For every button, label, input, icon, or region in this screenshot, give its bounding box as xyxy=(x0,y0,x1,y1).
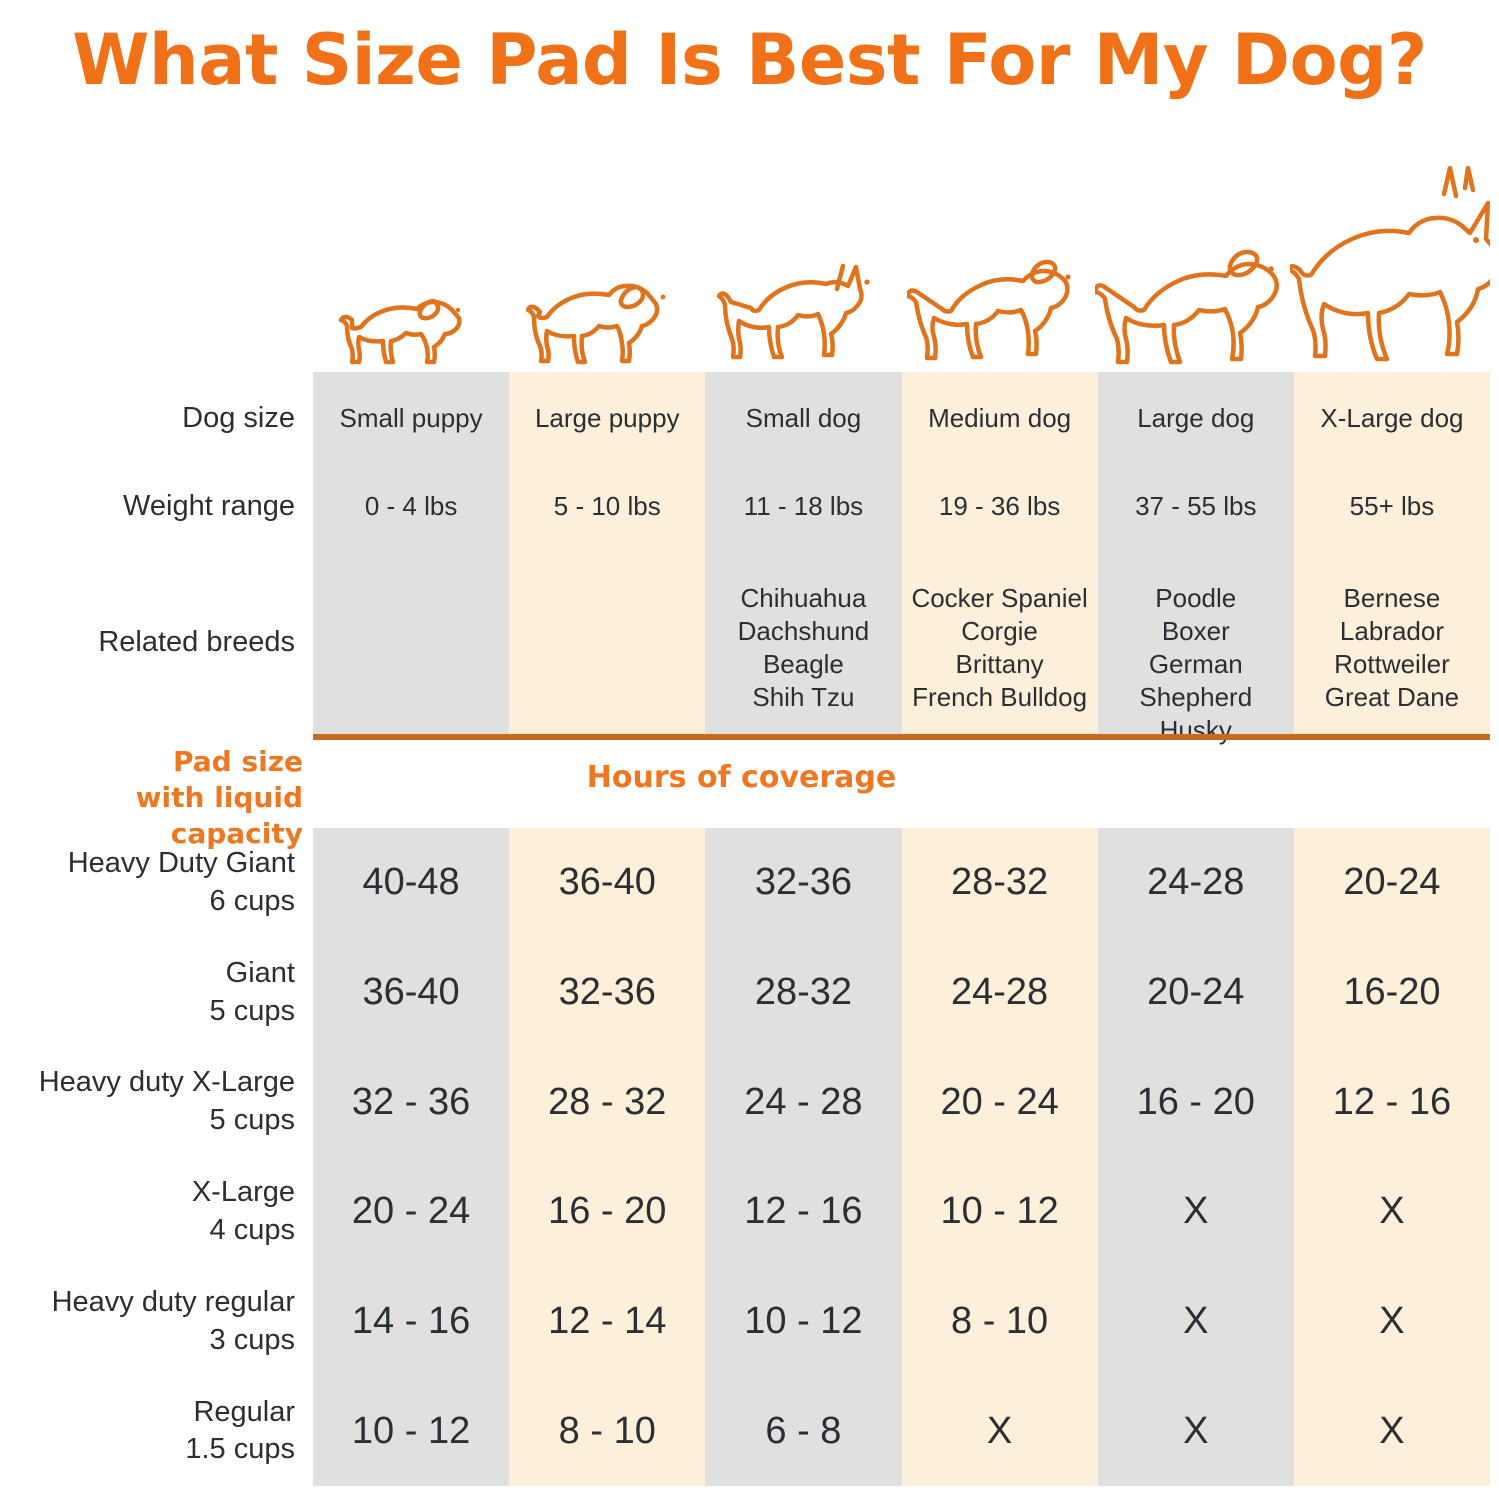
dog-cell-xlarge-dog xyxy=(1290,150,1490,372)
cell-dog-size-1: Large puppy xyxy=(509,402,705,435)
dog-silhouette-strip xyxy=(313,150,1490,372)
cell-hours-4-2: 10 - 12 xyxy=(705,1300,901,1343)
cell-hours-1-2: 28-32 xyxy=(705,971,901,1014)
pad-row-label-1: Giant 5 cups xyxy=(0,955,313,1030)
cell-hours-1-1: 32-36 xyxy=(509,971,705,1014)
small-dog-icon xyxy=(717,236,887,372)
cell-hours-4-0: 14 - 16 xyxy=(313,1300,509,1343)
pad-row-label-2: Heavy duty X-Large 5 cups xyxy=(0,1064,313,1139)
cell-breeds-2: Chihuahua Dachshund Beagle Shih Tzu xyxy=(705,582,901,747)
cell-breeds-3: Cocker Spaniel Corgie Brittany French Bu… xyxy=(902,582,1098,747)
pad-row-label-5: Regular 1.5 cups xyxy=(0,1394,313,1469)
row-label-weight-range: Weight range xyxy=(0,490,313,523)
cell-breeds-1 xyxy=(509,582,705,747)
cell-hours-3-4: X xyxy=(1098,1190,1294,1233)
cell-hours-3-5: X xyxy=(1294,1190,1490,1233)
cell-hours-5-5: X xyxy=(1294,1410,1490,1453)
cell-hours-1-0: 36-40 xyxy=(313,971,509,1014)
cell-hours-2-2: 24 - 28 xyxy=(705,1081,901,1124)
cell-hours-4-3: 8 - 10 xyxy=(902,1300,1098,1343)
cell-hours-2-3: 20 - 24 xyxy=(902,1081,1098,1124)
table-row: Regular 1.5 cups 10 - 12 8 - 10 6 - 8 X … xyxy=(0,1376,1499,1486)
hours-of-coverage-heading: Hours of coverage xyxy=(313,760,1490,795)
dog-cell-large-dog xyxy=(1095,150,1290,372)
cell-hours-0-3: 28-32 xyxy=(902,861,1098,904)
cell-hours-0-2: 32-36 xyxy=(705,861,901,904)
cell-breeds-0 xyxy=(313,582,509,747)
cell-breeds-4: Poodle Boxer German Shepherd Husky xyxy=(1098,582,1294,747)
table-row: Heavy duty regular 3 cups 14 - 16 12 - 1… xyxy=(0,1267,1499,1377)
small-puppy-icon xyxy=(336,276,486,372)
dog-size-table: Dog size Small puppy Large puppy Small d… xyxy=(0,372,1499,734)
cell-hours-3-1: 16 - 20 xyxy=(509,1190,705,1233)
cell-hours-1-3: 24-28 xyxy=(902,971,1098,1014)
table-row-dog-size: Dog size Small puppy Large puppy Small d… xyxy=(0,402,1499,435)
table-row: X-Large 4 cups 20 - 24 16 - 20 12 - 16 1… xyxy=(0,1157,1499,1267)
cell-dog-size-2: Small dog xyxy=(705,402,901,435)
cell-hours-2-0: 32 - 36 xyxy=(313,1081,509,1124)
cell-weight-5: 55+ lbs xyxy=(1294,490,1490,523)
cell-hours-2-4: 16 - 20 xyxy=(1098,1081,1294,1124)
table-row-weight-range: Weight range 0 - 4 lbs 5 - 10 lbs 11 - 1… xyxy=(0,490,1499,523)
cell-weight-2: 11 - 18 lbs xyxy=(705,490,901,523)
cell-dog-size-0: Small puppy xyxy=(313,402,509,435)
dog-cell-small-puppy xyxy=(313,150,508,372)
table-row: Heavy Duty Giant 6 cups 40-48 36-40 32-3… xyxy=(0,828,1499,938)
cell-hours-5-4: X xyxy=(1098,1410,1294,1453)
dog-cell-medium-dog xyxy=(899,150,1094,372)
cell-hours-5-1: 8 - 10 xyxy=(509,1410,705,1453)
cell-weight-4: 37 - 55 lbs xyxy=(1098,490,1294,523)
cell-dog-size-4: Large dog xyxy=(1098,402,1294,435)
cell-dog-size-5: X-Large dog xyxy=(1294,402,1490,435)
cell-hours-0-1: 36-40 xyxy=(509,861,705,904)
cell-hours-5-2: 6 - 8 xyxy=(705,1410,901,1453)
cell-hours-1-4: 20-24 xyxy=(1098,971,1294,1014)
cell-weight-0: 0 - 4 lbs xyxy=(313,490,509,523)
cell-hours-2-5: 12 - 16 xyxy=(1294,1081,1490,1124)
cell-hours-0-5: 20-24 xyxy=(1294,861,1490,904)
cell-hours-0-0: 40-48 xyxy=(313,861,509,904)
cell-hours-3-3: 10 - 12 xyxy=(902,1190,1098,1233)
table-row: Giant 5 cups 36-40 32-36 28-32 24-28 20-… xyxy=(0,938,1499,1048)
pad-row-label-3: X-Large 4 cups xyxy=(0,1174,313,1249)
cell-weight-3: 19 - 36 lbs xyxy=(902,490,1098,523)
hours-of-coverage-table: Heavy Duty Giant 6 cups 40-48 36-40 32-3… xyxy=(0,828,1499,1486)
cell-hours-4-5: X xyxy=(1294,1300,1490,1343)
cell-hours-4-4: X xyxy=(1098,1300,1294,1343)
dog-cell-small-dog xyxy=(704,150,899,372)
xlarge-dog-icon xyxy=(1290,166,1490,372)
page-title: What Size Pad Is Best For My Dog? xyxy=(0,0,1499,120)
pad-row-label-0: Heavy Duty Giant 6 cups xyxy=(0,845,313,920)
cell-breeds-5: Bernese Labrador Rottweiler Great Dane xyxy=(1294,582,1490,747)
section-divider-rule xyxy=(313,734,1490,740)
cell-hours-2-1: 28 - 32 xyxy=(509,1081,705,1124)
pad-row-label-4: Heavy duty regular 3 cups xyxy=(0,1284,313,1359)
large-dog-icon xyxy=(1095,220,1290,372)
cell-hours-3-0: 20 - 24 xyxy=(313,1190,509,1233)
cell-hours-4-1: 12 - 14 xyxy=(509,1300,705,1343)
cell-dog-size-3: Medium dog xyxy=(902,402,1098,435)
cell-hours-5-3: X xyxy=(902,1410,1098,1453)
cell-weight-1: 5 - 10 lbs xyxy=(509,490,705,523)
large-puppy-icon xyxy=(526,256,686,372)
cell-hours-1-5: 16-20 xyxy=(1294,971,1490,1014)
table-row-related-breeds: Related breeds Chihuahua Dachshund Beagl… xyxy=(0,582,1499,747)
dog-cell-large-puppy xyxy=(508,150,703,372)
table-row: Heavy duty X-Large 5 cups 32 - 36 28 - 3… xyxy=(0,1047,1499,1157)
row-label-related-breeds: Related breeds xyxy=(0,582,313,747)
cell-hours-0-4: 24-28 xyxy=(1098,861,1294,904)
cell-hours-3-2: 12 - 16 xyxy=(705,1190,901,1233)
row-label-dog-size: Dog size xyxy=(0,402,313,435)
cell-hours-5-0: 10 - 12 xyxy=(313,1410,509,1453)
medium-dog-icon xyxy=(907,232,1087,372)
